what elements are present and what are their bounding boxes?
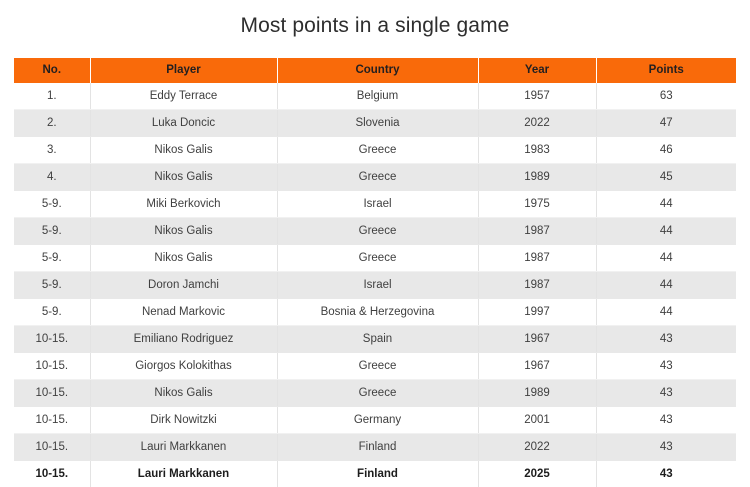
cell-player: Lauri Markkanen: [90, 434, 277, 461]
table-row: 10-15.Lauri MarkkanenFinland202243: [14, 434, 736, 461]
cell-player: Nenad Markovic: [90, 299, 277, 326]
cell-year: 1997: [478, 299, 596, 326]
table-row: 5-9.Doron JamchiIsrael198744: [14, 272, 736, 299]
cell-points: 45: [596, 164, 736, 191]
cell-player: Doron Jamchi: [90, 272, 277, 299]
cell-player: Nikos Galis: [90, 245, 277, 272]
cell-no: 10-15.: [14, 380, 90, 407]
cell-year: 2022: [478, 110, 596, 137]
table-row: 3.Nikos GalisGreece198346: [14, 137, 736, 164]
table-row: 2.Luka DoncicSlovenia202247: [14, 110, 736, 137]
table-row: 10-15.Dirk NowitzkiGermany200143: [14, 407, 736, 434]
column-header-player[interactable]: Player: [90, 58, 277, 83]
table-row: 10-15.Nikos GalisGreece198943: [14, 380, 736, 407]
cell-country: Slovenia: [277, 110, 478, 137]
cell-country: Israel: [277, 191, 478, 218]
page-title: Most points in a single game: [0, 0, 750, 38]
cell-country: Bosnia & Herzegovina: [277, 299, 478, 326]
cell-points: 44: [596, 299, 736, 326]
cell-no: 10-15.: [14, 461, 90, 487]
table-header: No. Player Country Year Points: [14, 58, 736, 83]
cell-year: 2025: [478, 461, 596, 487]
table-row: 10-15.Lauri MarkkanenFinland202543: [14, 461, 736, 487]
cell-points: 46: [596, 137, 736, 164]
cell-no: 10-15.: [14, 353, 90, 380]
cell-points: 43: [596, 407, 736, 434]
cell-country: Belgium: [277, 83, 478, 110]
cell-country: Greece: [277, 380, 478, 407]
cell-player: Giorgos Kolokithas: [90, 353, 277, 380]
ranking-table: No. Player Country Year Points 1.Eddy Te…: [14, 58, 736, 487]
cell-country: Greece: [277, 245, 478, 272]
cell-no: 5-9.: [14, 272, 90, 299]
table-row: 10-15.Emiliano RodriguezSpain196743: [14, 326, 736, 353]
cell-year: 1957: [478, 83, 596, 110]
cell-points: 44: [596, 272, 736, 299]
cell-points: 43: [596, 326, 736, 353]
cell-country: Finland: [277, 434, 478, 461]
cell-points: 43: [596, 353, 736, 380]
cell-no: 5-9.: [14, 218, 90, 245]
cell-year: 1967: [478, 353, 596, 380]
cell-country: Germany: [277, 407, 478, 434]
cell-year: 1989: [478, 380, 596, 407]
cell-no: 5-9.: [14, 245, 90, 272]
table-row: 5-9.Nenad MarkovicBosnia & Herzegovina19…: [14, 299, 736, 326]
column-header-country[interactable]: Country: [277, 58, 478, 83]
cell-points: 43: [596, 380, 736, 407]
cell-player: Luka Doncic: [90, 110, 277, 137]
cell-year: 2001: [478, 407, 596, 434]
cell-no: 4.: [14, 164, 90, 191]
column-header-points[interactable]: Points: [596, 58, 736, 83]
cell-points: 44: [596, 218, 736, 245]
cell-player: Eddy Terrace: [90, 83, 277, 110]
cell-country: Greece: [277, 218, 478, 245]
cell-no: 10-15.: [14, 326, 90, 353]
table-row: 5-9.Nikos GalisGreece198744: [14, 218, 736, 245]
column-header-year[interactable]: Year: [478, 58, 596, 83]
cell-no: 10-15.: [14, 407, 90, 434]
table-header-row: No. Player Country Year Points: [14, 58, 736, 83]
table-row: 5-9.Nikos GalisGreece198744: [14, 245, 736, 272]
cell-year: 1967: [478, 326, 596, 353]
cell-player: Nikos Galis: [90, 164, 277, 191]
cell-no: 2.: [14, 110, 90, 137]
cell-year: 1989: [478, 164, 596, 191]
cell-country: Greece: [277, 353, 478, 380]
table-row: 1.Eddy TerraceBelgium195763: [14, 83, 736, 110]
cell-points: 47: [596, 110, 736, 137]
cell-year: 1987: [478, 245, 596, 272]
page-root: Most points in a single game No. Player …: [0, 0, 750, 484]
cell-points: 44: [596, 191, 736, 218]
ranking-table-container: No. Player Country Year Points 1.Eddy Te…: [14, 58, 736, 487]
cell-country: Israel: [277, 272, 478, 299]
cell-points: 43: [596, 434, 736, 461]
cell-year: 2022: [478, 434, 596, 461]
cell-country: Finland: [277, 461, 478, 487]
cell-year: 1975: [478, 191, 596, 218]
cell-no: 5-9.: [14, 191, 90, 218]
cell-country: Spain: [277, 326, 478, 353]
cell-year: 1987: [478, 218, 596, 245]
cell-no: 3.: [14, 137, 90, 164]
cell-no: 5-9.: [14, 299, 90, 326]
column-header-no[interactable]: No.: [14, 58, 90, 83]
cell-no: 10-15.: [14, 434, 90, 461]
cell-player: Nikos Galis: [90, 380, 277, 407]
cell-points: 44: [596, 245, 736, 272]
cell-player: Lauri Markkanen: [90, 461, 277, 487]
cell-year: 1983: [478, 137, 596, 164]
cell-player: Nikos Galis: [90, 137, 277, 164]
cell-country: Greece: [277, 137, 478, 164]
cell-player: Emiliano Rodriguez: [90, 326, 277, 353]
table-row: 10-15.Giorgos KolokithasGreece196743: [14, 353, 736, 380]
cell-player: Miki Berkovich: [90, 191, 277, 218]
table-row: 4.Nikos GalisGreece198945: [14, 164, 736, 191]
cell-country: Greece: [277, 164, 478, 191]
cell-points: 43: [596, 461, 736, 487]
table-row: 5-9.Miki BerkovichIsrael197544: [14, 191, 736, 218]
cell-no: 1.: [14, 83, 90, 110]
cell-player: Nikos Galis: [90, 218, 277, 245]
cell-points: 63: [596, 83, 736, 110]
cell-player: Dirk Nowitzki: [90, 407, 277, 434]
cell-year: 1987: [478, 272, 596, 299]
table-body: 1.Eddy TerraceBelgium1957632.Luka Doncic…: [14, 83, 736, 487]
